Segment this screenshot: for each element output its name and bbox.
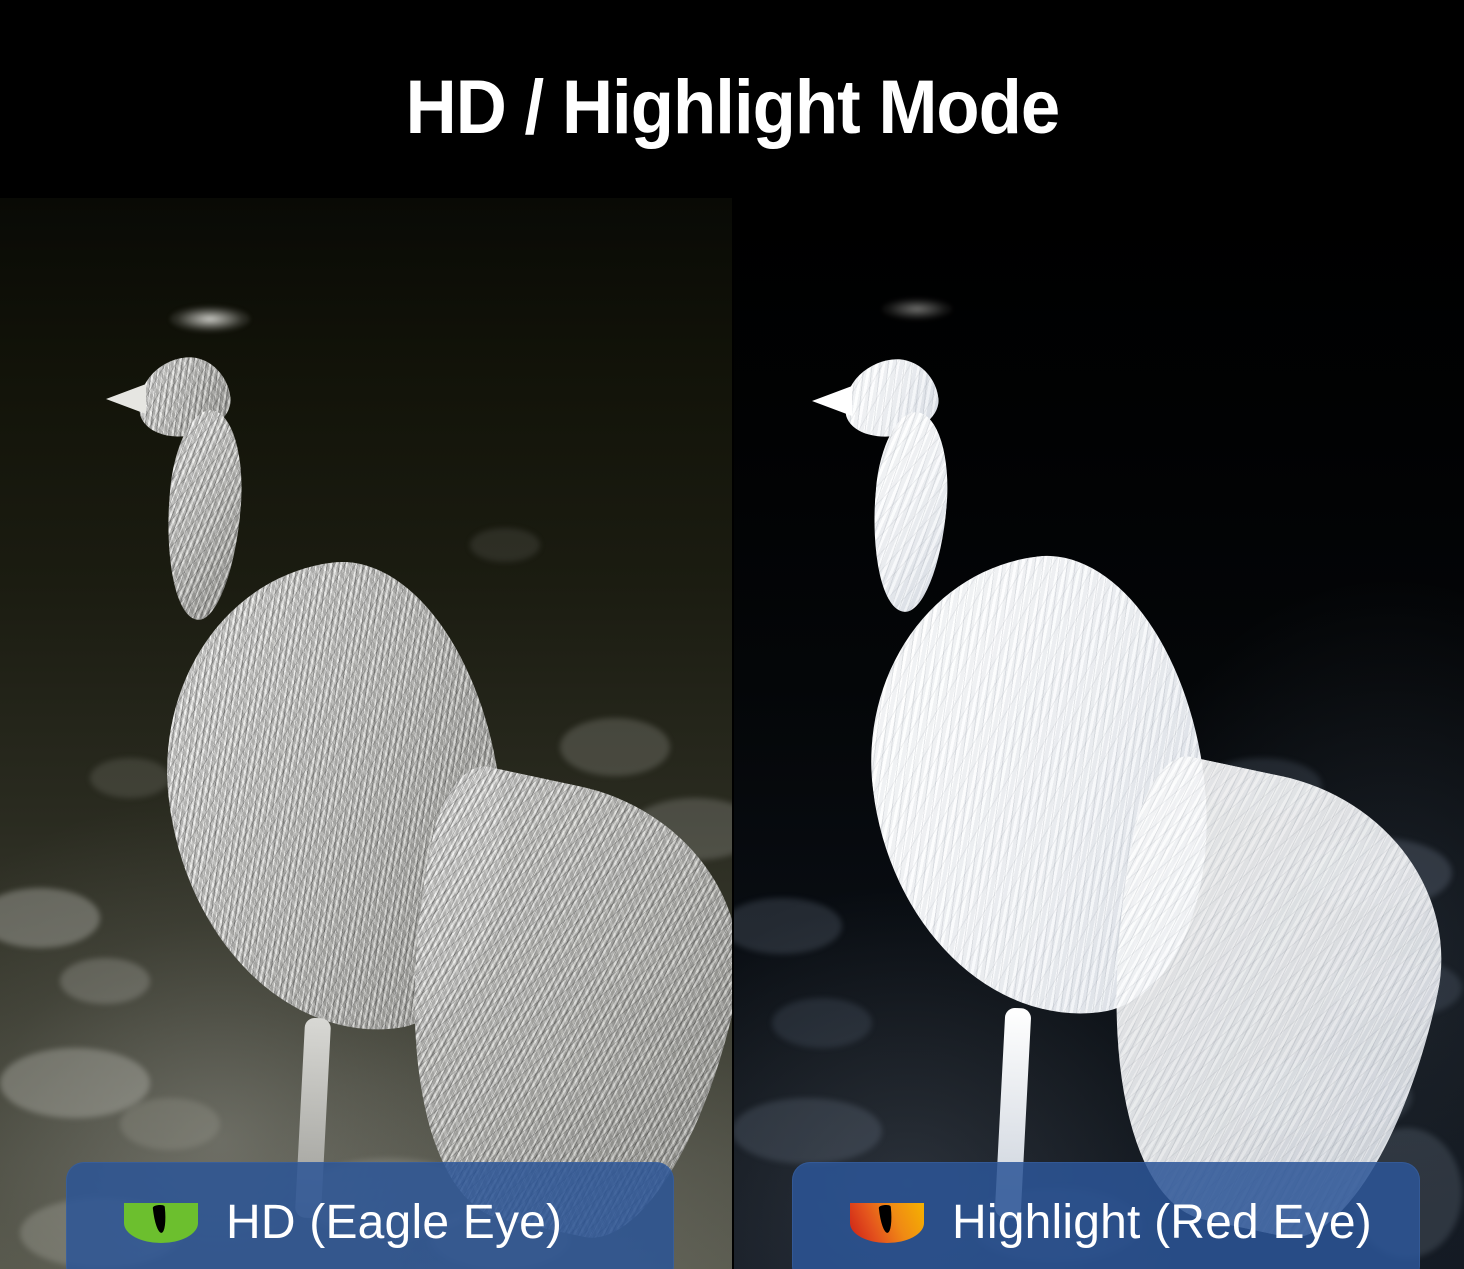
eye-icon-red (850, 1203, 924, 1243)
crest-hd (170, 306, 250, 332)
panel-divider (732, 198, 734, 1269)
page-title: HD / Highlight Mode (405, 70, 1059, 146)
mode-badge-label-hd: HD (Eagle Eye) (226, 1199, 562, 1247)
panel-highlight: Highlight (Red Eye) In summer, when all … (732, 198, 1464, 1269)
mode-badge-hd[interactable]: HD (Eagle Eye) (66, 1162, 674, 1269)
bird-beak-hd (106, 384, 146, 414)
crest-highlight (882, 298, 952, 320)
mode-badge-label-highlight: Highlight (Red Eye) (952, 1199, 1372, 1247)
eye-icon-green (124, 1203, 198, 1243)
title-bar: HD / Highlight Mode (0, 0, 1464, 198)
mode-badge-highlight[interactable]: Highlight (Red Eye) (792, 1162, 1420, 1269)
panel-hd: HD (Eagle Eye) It can clearly display th… (0, 198, 732, 1269)
bird-beak-highlight (812, 386, 852, 416)
promo-panel-root: HD / Highlight Mode (0, 0, 1464, 1269)
